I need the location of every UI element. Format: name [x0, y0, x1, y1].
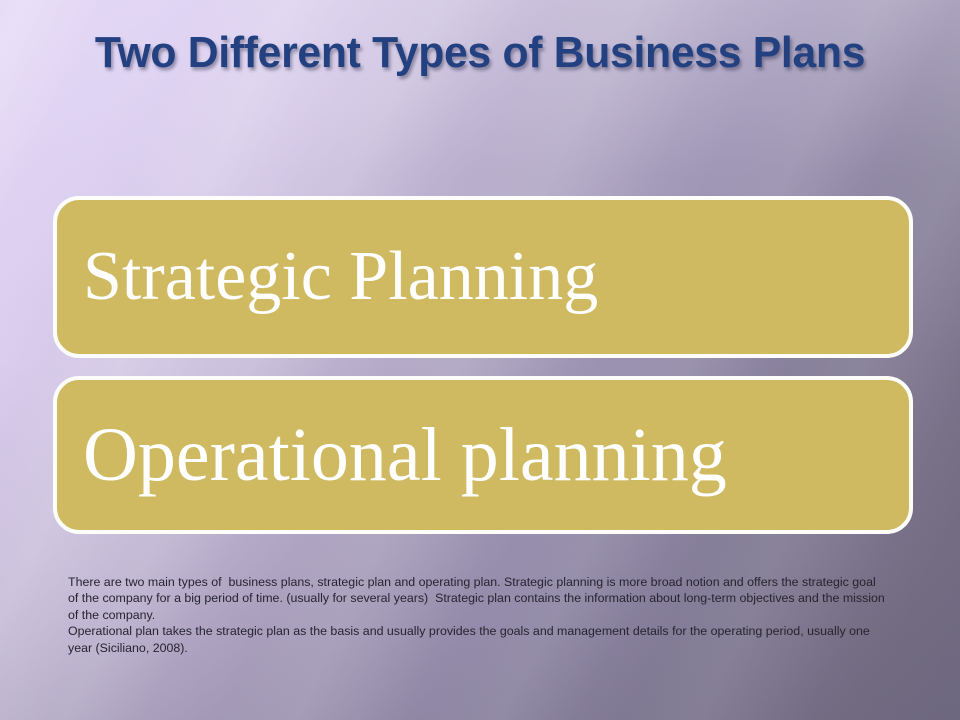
content-box-strategic-planning[interactable]: Strategic Planning: [53, 196, 913, 358]
content-box-label: Operational planning: [57, 417, 727, 493]
content-box-label: Strategic Planning: [57, 242, 598, 312]
body-paragraph: There are two main types of business pla…: [68, 574, 888, 656]
slide-title: Two Different Types of Business Plans: [73, 28, 888, 78]
slide-canvas: Two Different Types of Business Plans St…: [0, 0, 960, 720]
content-box-operational-planning[interactable]: Operational planning: [53, 376, 913, 534]
